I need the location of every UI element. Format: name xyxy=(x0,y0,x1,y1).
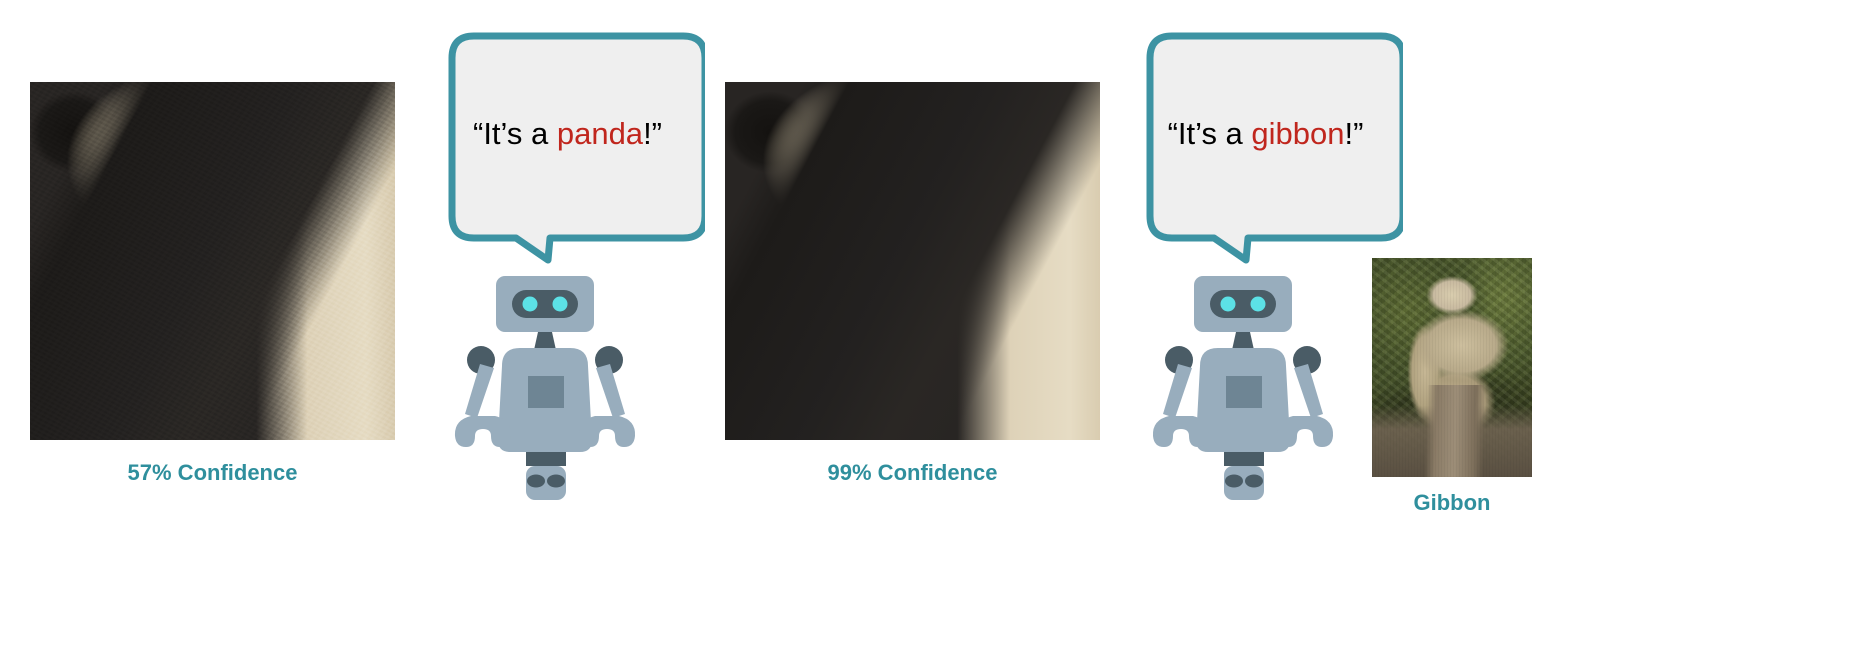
bubble-text-suffix: !” xyxy=(1345,116,1364,151)
robot-torso-group xyxy=(498,348,592,452)
robot-head-group xyxy=(1194,276,1292,353)
bubble-text-suffix: !” xyxy=(643,116,662,151)
photo-noise-layer xyxy=(30,82,395,440)
robot-leg-group xyxy=(1224,452,1264,500)
bubble-text-prefix: “It’s a xyxy=(473,116,557,151)
illustration-canvas: 57% Confidence “It’s a panda!” xyxy=(0,0,1852,646)
robot-head-group xyxy=(496,276,594,353)
photo-grain-layer xyxy=(1372,258,1532,477)
gibbon-label: Gibbon xyxy=(1372,490,1532,516)
bubble-text-highlight: gibbon xyxy=(1251,116,1344,151)
robot-torso-group xyxy=(1196,348,1290,452)
speech-bubble-right: “It’s a gibbon!” xyxy=(1128,28,1403,273)
bubble-text-highlight: panda xyxy=(557,116,643,151)
confidence-label-right: 99% Confidence xyxy=(725,460,1100,486)
speech-bubble-left: “It’s a panda!” xyxy=(430,28,705,273)
confidence-label-left: 57% Confidence xyxy=(30,460,395,486)
robot-leg-group xyxy=(526,452,566,500)
speech-bubble-left-text: “It’s a panda!” xyxy=(430,116,705,152)
classifier-robot-right xyxy=(1138,272,1348,504)
classifier-robot-left xyxy=(440,272,650,504)
photo-subject-layer xyxy=(725,82,1100,440)
panda-photo-noisy xyxy=(30,82,395,440)
speech-bubble-right-text: “It’s a gibbon!” xyxy=(1128,116,1403,152)
panda-photo-clean xyxy=(725,82,1100,440)
gibbon-photo xyxy=(1372,258,1532,477)
bubble-text-prefix: “It’s a xyxy=(1168,116,1252,151)
